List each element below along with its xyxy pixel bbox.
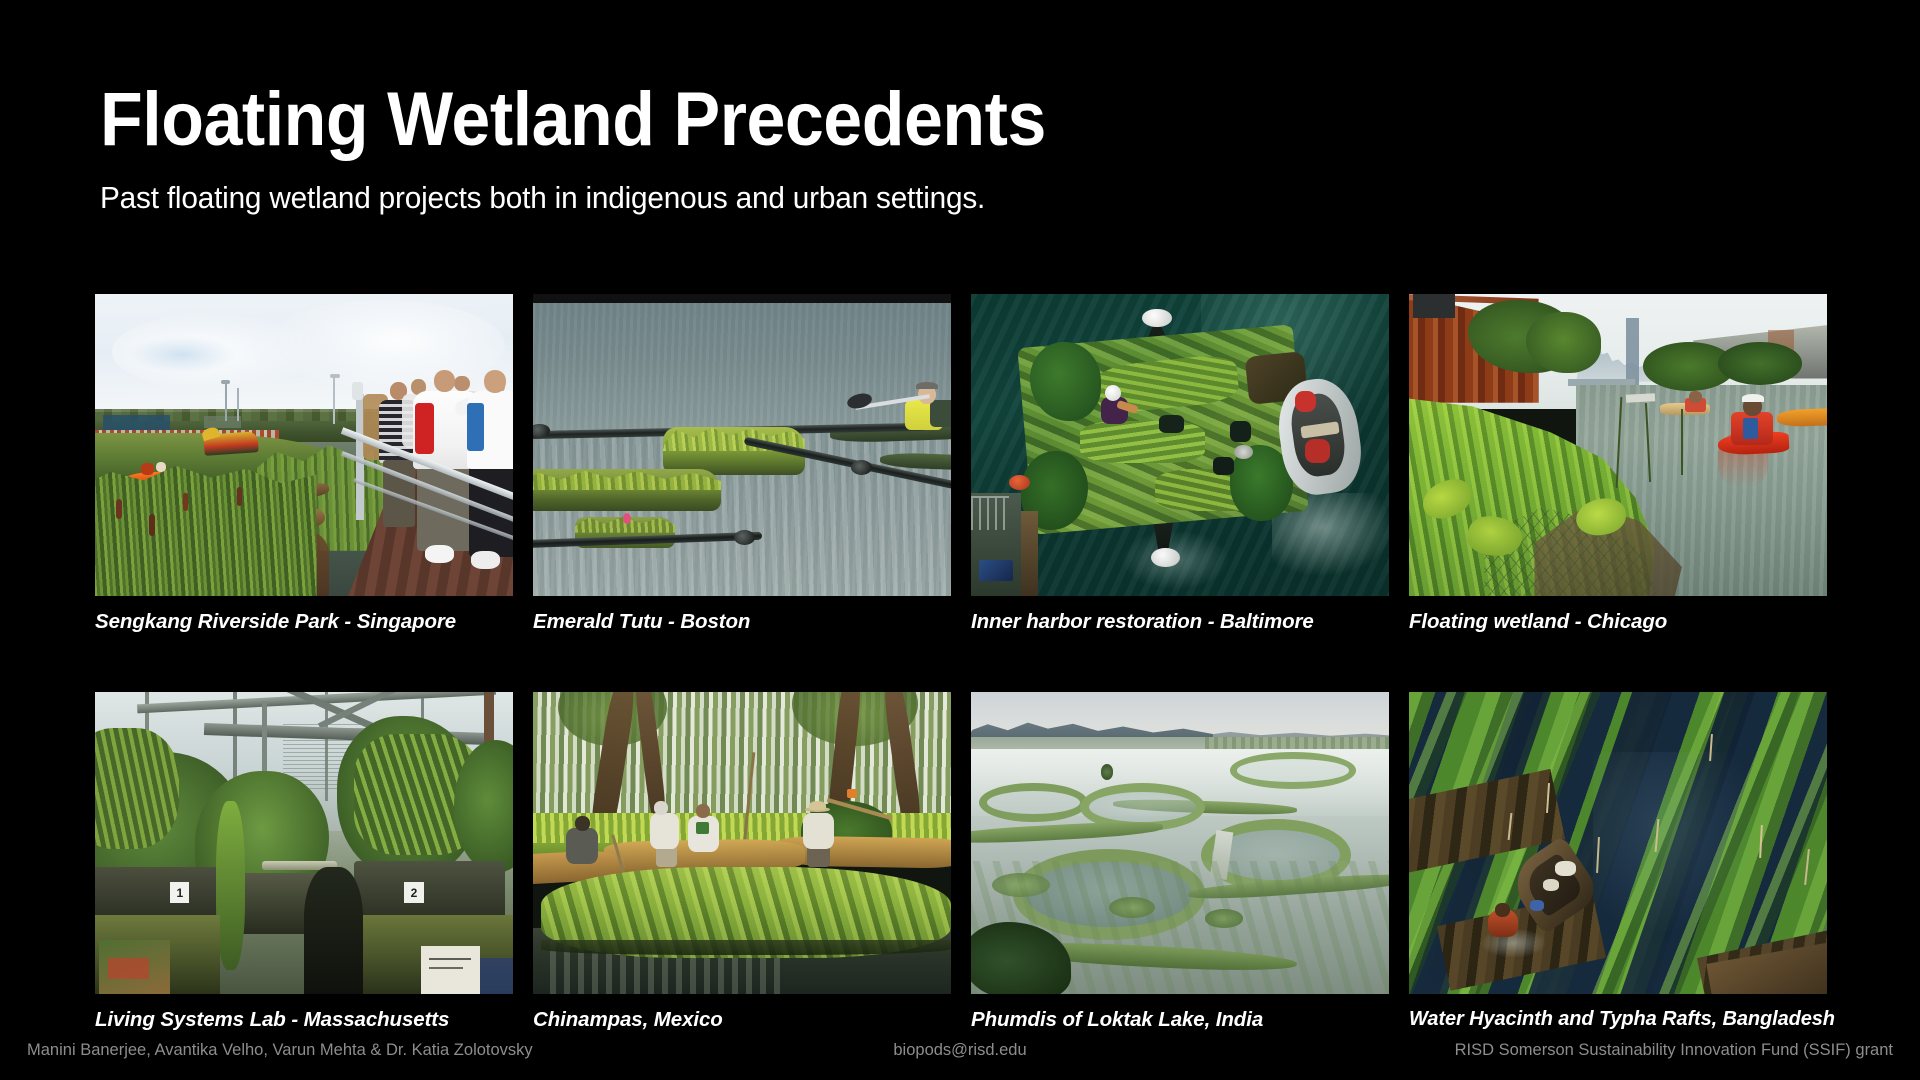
footer-funding: RISD Somerson Sustainability Innovation … xyxy=(1455,1041,1893,1060)
slide-header: Floating Wetland Precedents Past floatin… xyxy=(100,82,1128,216)
footer-authors: Manini Banerjee, Avantika Velho, Varun M… xyxy=(27,1041,533,1060)
boom-end-cap xyxy=(734,530,755,545)
life-vest xyxy=(1743,418,1757,439)
distant-building xyxy=(204,416,242,428)
page-subtitle: Past floating wetland projects both in i… xyxy=(100,180,1087,216)
rail-post-cap xyxy=(352,382,363,400)
worker-body xyxy=(650,813,679,849)
hanging-vine xyxy=(216,801,245,970)
debris-bag xyxy=(1213,457,1234,475)
person-head xyxy=(484,370,507,394)
precedent-caption: Floating wetland - Chicago xyxy=(1409,610,1827,634)
cattail xyxy=(237,487,242,506)
lamp-post xyxy=(333,376,335,424)
precedent-card-loktak[interactable]: Phumdis of Loktak Lake, India xyxy=(971,692,1389,1032)
precedent-photo-loktak[interactable] xyxy=(971,692,1389,994)
wooden-piling xyxy=(1021,511,1038,596)
footer-email[interactable]: biopods@risd.edu xyxy=(893,1041,1026,1060)
precedent-card-emerald-tutu[interactable]: Emerald Tutu - Boston xyxy=(533,294,951,634)
worker-body xyxy=(803,813,834,849)
lamp-post xyxy=(237,388,239,421)
grass-clump xyxy=(1080,421,1205,463)
precedent-card-sengkang[interactable]: Sengkang Riverside Park - Singapore xyxy=(95,294,513,634)
pink-flower xyxy=(623,513,631,524)
blue-sky-patch xyxy=(128,336,237,372)
boat-crew xyxy=(1295,391,1316,412)
orange-buoy xyxy=(1009,475,1030,490)
tree xyxy=(1718,342,1802,384)
cattail xyxy=(183,493,188,511)
precedent-card-chicago[interactable]: Floating wetland - Chicago xyxy=(1409,294,1827,634)
sign-panel xyxy=(1626,393,1656,402)
dock-railing xyxy=(971,496,1009,529)
tree xyxy=(1526,312,1601,372)
orange-flag xyxy=(847,789,857,798)
poster-text-line xyxy=(429,967,462,969)
cloud xyxy=(262,300,504,391)
raft-edge xyxy=(541,940,951,955)
tank-number-label-2: 2 xyxy=(404,882,423,903)
cattail xyxy=(116,499,122,519)
precedent-caption: Emerald Tutu - Boston xyxy=(533,610,951,634)
debris-bag xyxy=(1159,415,1184,433)
poster xyxy=(421,946,480,994)
float-buoy xyxy=(1151,548,1180,568)
stake xyxy=(1681,409,1683,475)
poster-text-line xyxy=(429,958,471,960)
dark-tank xyxy=(304,867,363,994)
boom-end-cap xyxy=(851,460,872,475)
shoe xyxy=(425,545,454,563)
worker-head xyxy=(696,804,710,818)
cargo-bundle xyxy=(1555,861,1576,876)
cap xyxy=(916,382,938,390)
phumdi-ring xyxy=(1230,752,1355,788)
photo-edge xyxy=(533,294,951,303)
worker-head xyxy=(654,801,668,815)
worker-head xyxy=(575,816,590,831)
distant-paddler-head xyxy=(1689,391,1702,403)
building xyxy=(1413,294,1455,318)
person-shirt-accent xyxy=(467,403,484,451)
water-sheen xyxy=(1593,752,1760,933)
lamp-head xyxy=(330,374,340,378)
worker-body xyxy=(566,828,597,864)
straw-hat xyxy=(809,801,826,811)
precedent-photo-chicago[interactable] xyxy=(1409,294,1827,596)
float-buoy xyxy=(1142,309,1171,327)
precedent-photo-chinampas[interactable] xyxy=(533,692,951,994)
precedent-photo-emerald-tutu[interactable] xyxy=(533,294,951,596)
lone-tree xyxy=(1101,764,1114,779)
shoe xyxy=(471,551,500,569)
lamp-head xyxy=(221,380,230,384)
cap xyxy=(1742,394,1765,402)
precedent-image-grid: Sengkang Riverside Park - Singapore xyxy=(95,294,1830,1032)
precedent-caption: Sengkang Riverside Park - Singapore xyxy=(95,610,513,634)
grass-foliage xyxy=(95,728,179,849)
precedent-photo-sengkang[interactable] xyxy=(95,294,513,596)
precedent-photo-bangladesh[interactable] xyxy=(1409,692,1827,994)
precedent-card-living-systems-lab[interactable]: 1 2 Living Systems Lab - Massachusetts xyxy=(95,692,513,1032)
paddler-torso xyxy=(930,400,951,427)
poster-graphic xyxy=(108,958,150,979)
slide-footer: Manini Banerjee, Avantika Velho, Varun M… xyxy=(0,1020,1920,1080)
person-head xyxy=(454,376,469,392)
solar-panel xyxy=(979,560,1012,581)
farmer-head xyxy=(1495,903,1510,917)
skyscraper xyxy=(1626,318,1639,384)
worker-holding-plant xyxy=(696,822,709,834)
person-shirt-accent xyxy=(415,403,434,454)
blue-object xyxy=(480,958,513,994)
precedent-card-chinampas[interactable]: Chinampas, Mexico xyxy=(533,692,951,1032)
presentation-slide: Floating Wetland Precedents Past floatin… xyxy=(0,0,1920,1080)
cargo-bundle xyxy=(1543,879,1560,891)
lamp-post xyxy=(225,382,227,421)
page-title: Floating Wetland Precedents xyxy=(100,82,1046,158)
precedent-photo-baltimore[interactable] xyxy=(971,294,1389,596)
paddler xyxy=(141,463,154,475)
dock-railing-top xyxy=(971,496,1009,498)
precedent-caption: Inner harbor restoration - Baltimore xyxy=(971,610,1389,634)
cattail xyxy=(149,514,155,536)
precedent-card-baltimore[interactable]: Inner harbor restoration - Baltimore xyxy=(971,294,1389,634)
bucket xyxy=(1234,445,1253,459)
precedent-card-bangladesh[interactable]: Water Hyacinth and Typha Rafts, Banglade… xyxy=(1409,692,1827,1032)
tank-number-label-1: 1 xyxy=(170,882,189,903)
debris-bag xyxy=(1230,421,1251,442)
phumdi-ring xyxy=(979,783,1088,822)
precedent-photo-living-systems-lab[interactable]: 1 2 xyxy=(95,692,513,994)
person-head xyxy=(434,370,456,393)
boat-crew xyxy=(1305,439,1330,463)
blue-container xyxy=(1530,900,1544,910)
